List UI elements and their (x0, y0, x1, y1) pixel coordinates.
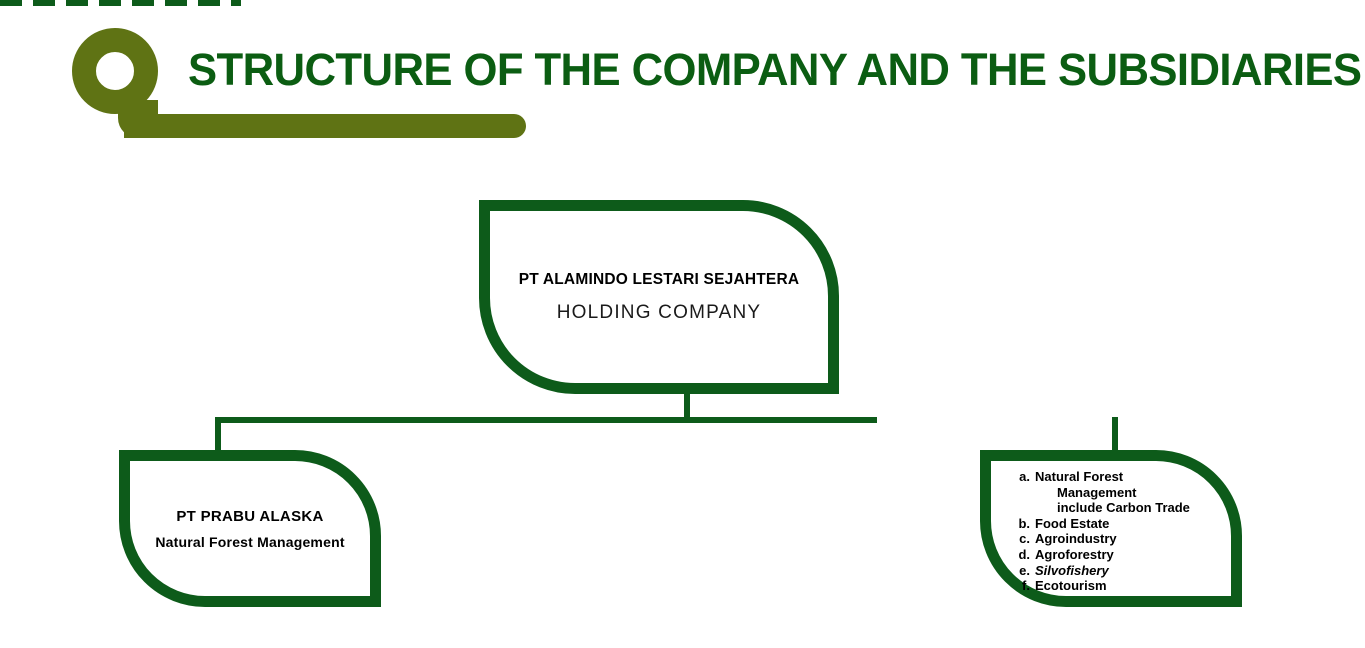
connector-bus-dashed (0, 0, 241, 6)
list-item-marker: c. (1013, 531, 1030, 547)
connector-drop-left (215, 417, 221, 453)
list-item: a.Natural Forest (1013, 469, 1190, 485)
holding-company-name: PT ALAMINDO LESTARI SEJAHTERA (519, 271, 800, 289)
list-item-label: Agroindustry (1035, 531, 1117, 547)
list-item: d.Agroforestry (1013, 547, 1190, 563)
list-item-marker (1013, 500, 1030, 516)
list-item-marker (1013, 485, 1030, 501)
prabu-company-name: PT PRABU ALASKA (176, 508, 323, 525)
prabu-company-role: Natural Forest Management (155, 534, 344, 550)
list-item: b.Food Estate (1013, 516, 1190, 532)
list-item-marker: b. (1013, 516, 1030, 532)
list-item-label: Food Estate (1035, 516, 1109, 532)
list-item: f.Ecotourism (1013, 578, 1190, 594)
connector-drop-right (1112, 417, 1118, 453)
list-item-marker: e. (1013, 563, 1030, 579)
list-item-marker: d. (1013, 547, 1030, 563)
list-item: e.Silvofishery (1013, 563, 1190, 579)
list-item-label: Agroforestry (1035, 547, 1114, 563)
list-item-label: Natural Forest (1035, 469, 1123, 485)
list-item-marker: a. (1013, 469, 1030, 485)
list-item-label: Silvofishery (1035, 563, 1109, 579)
node-pt-prabu-alaska[interactable]: PT PRABU ALASKA Natural Forest Managemen… (119, 450, 381, 607)
org-chart: PT ALAMINDO LESTARI SEJAHTERA HOLDING CO… (0, 0, 1365, 648)
node-business-activities[interactable]: a.Natural ForestManagementinclude Carbon… (980, 450, 1242, 607)
list-item: c.Agroindustry (1013, 531, 1190, 547)
list-item-marker: f. (1013, 578, 1030, 594)
list-item-label: Ecotourism (1035, 578, 1107, 594)
list-item: Management (1013, 485, 1190, 501)
business-activities-list: a.Natural ForestManagementinclude Carbon… (991, 469, 1190, 594)
list-item: include Carbon Trade (1013, 500, 1190, 516)
holding-company-role: HOLDING COMPANY (557, 302, 762, 324)
list-item-label: include Carbon Trade (1035, 500, 1190, 516)
node-holding-company[interactable]: PT ALAMINDO LESTARI SEJAHTERA HOLDING CO… (479, 200, 839, 394)
list-item-label: Management (1035, 485, 1136, 501)
connector-bus-solid (215, 417, 877, 423)
